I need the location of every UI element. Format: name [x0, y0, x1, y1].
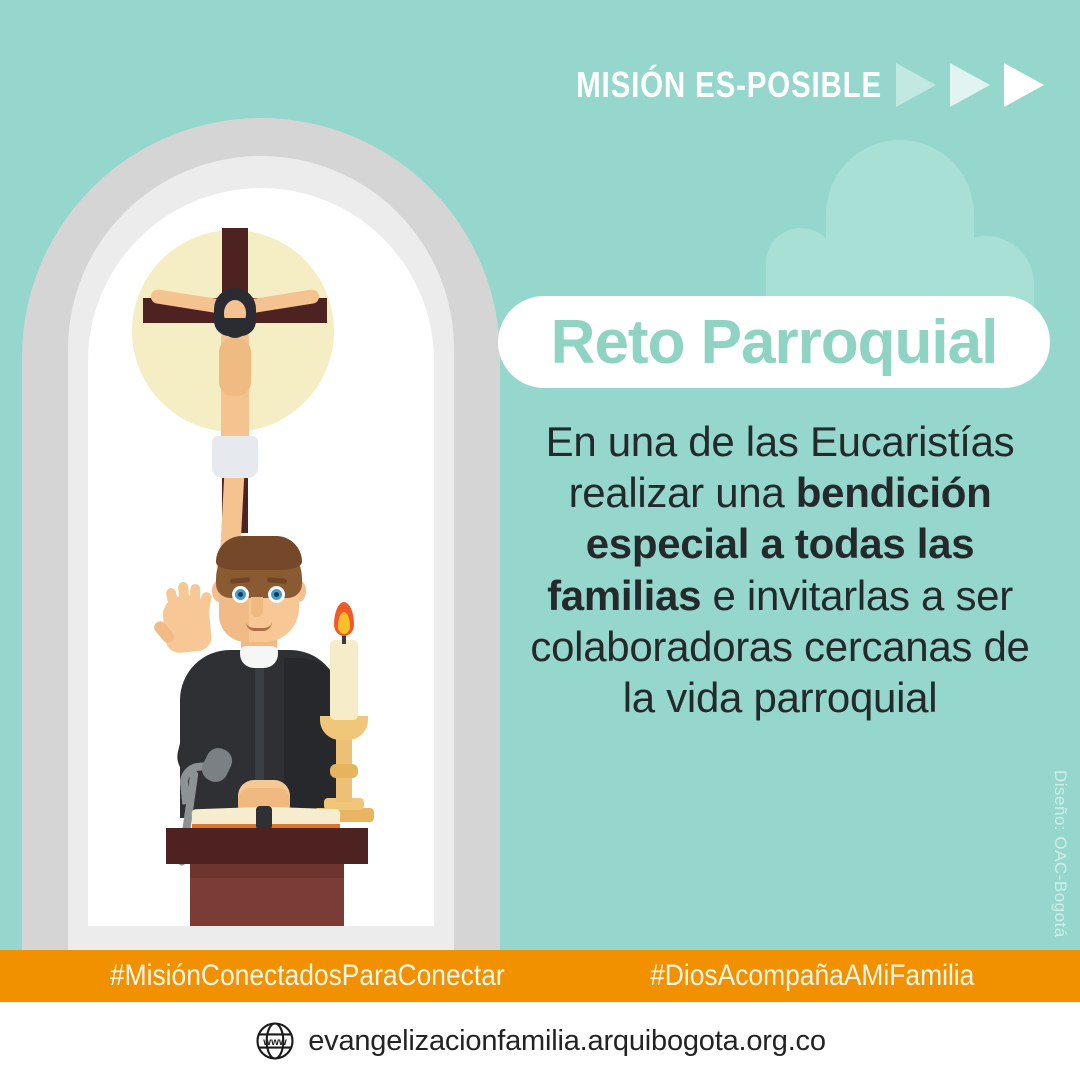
candle-wax [330, 640, 358, 720]
design-credit: Diseño: OAC-Bogotá [1050, 770, 1070, 938]
priest-pupil-right [274, 592, 279, 597]
priest-clerical-collar [240, 646, 278, 668]
arch-inner-panel [88, 188, 434, 926]
play-arrow-solid-icon [1004, 63, 1044, 107]
globe-www-icon: www [254, 1020, 296, 1062]
play-arrow-faint-icon [896, 63, 936, 107]
hashtag-mision-conectados: #MisiónConectadosParaConectar [110, 959, 505, 993]
website-url[interactable]: evangelizacionfamilia.arquibogota.org.co [308, 1025, 826, 1058]
mission-title: MISIÓN ES-POSIBLE [576, 64, 882, 106]
arch-mid-band [68, 156, 454, 950]
body-copy: En una de las Eucaristías realizar una b… [520, 416, 1040, 723]
open-book-spine [256, 806, 272, 830]
play-arrow-group [896, 63, 1044, 107]
svg-text:www: www [262, 1037, 287, 1048]
priest-raised-hand [161, 594, 213, 655]
poster-canvas: MISIÓN ES-POSIBLE [0, 0, 1080, 1080]
url-bar: www evangelizacionfamilia.arquibogota.or… [0, 1002, 1080, 1080]
priest-pupil-left [238, 592, 243, 597]
priest-hair-fringe [216, 536, 302, 570]
lectern-body-shadow [190, 864, 344, 878]
candle-flame-inner [338, 612, 350, 634]
priest-nose [251, 597, 263, 617]
header-bar: MISIÓN ES-POSIBLE [0, 58, 1080, 112]
hashtag-bar: #MisiónConectadosParaConectar #DiosAcomp… [0, 950, 1080, 1002]
arch-outer-band [22, 118, 500, 950]
cloud-decoration [766, 140, 1046, 320]
reto-parroquial-title: Reto Parroquial [498, 296, 1050, 388]
play-arrow-mid-icon [950, 63, 990, 107]
hashtag-dios-acompana: #DiosAcompañaAMiFamilia [650, 959, 974, 993]
candlestick-knob [330, 764, 358, 778]
lectern-ledge [166, 828, 368, 864]
